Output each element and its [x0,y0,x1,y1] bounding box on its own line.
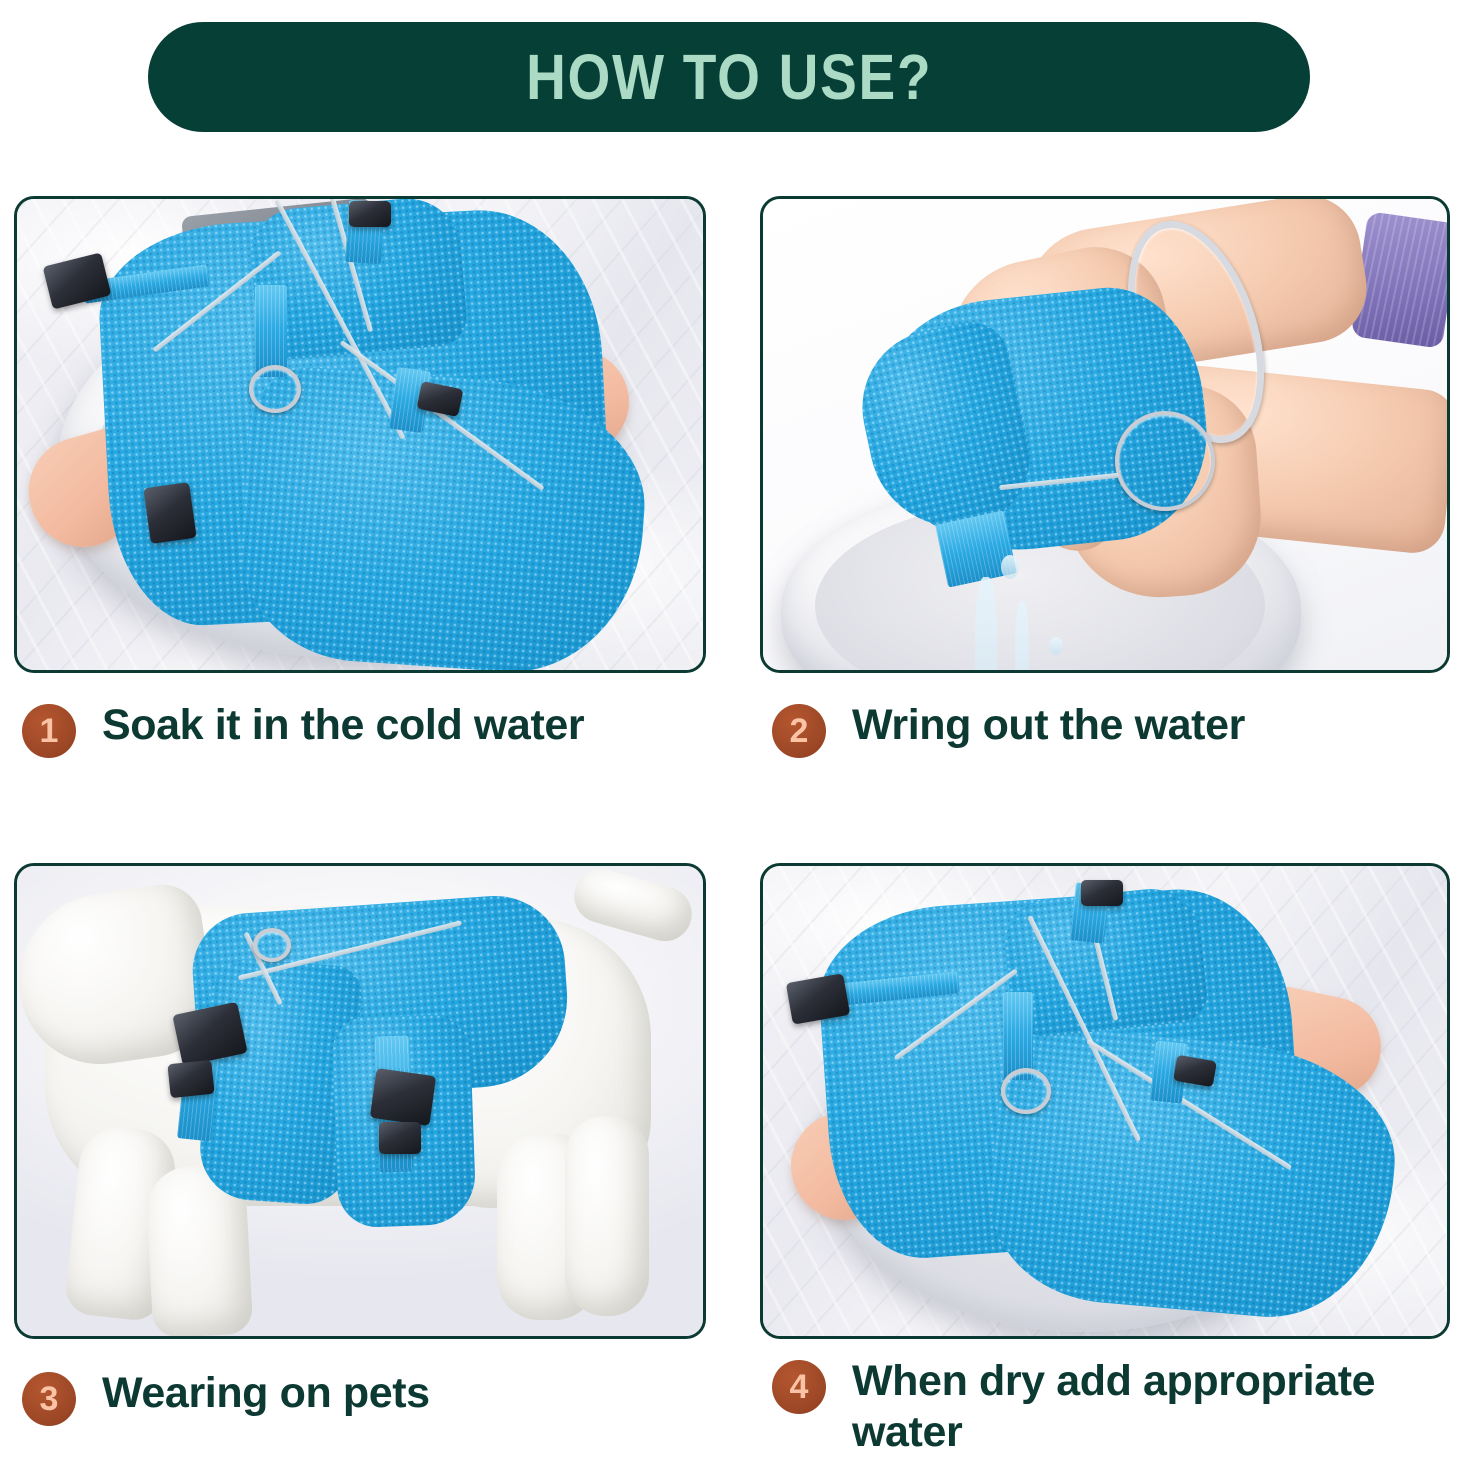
step-number-badge: 4 [772,1360,826,1414]
step-3-scene [17,866,703,1336]
water-stream-secondary [1015,601,1029,670]
harness-o-ring [1115,411,1215,511]
step-caption-text: Soak it in the cold water [102,700,584,751]
header-banner: HOW TO USE? [148,22,1310,132]
step-caption-text: Wearing on pets [102,1368,430,1419]
harness-top-ring [253,928,291,962]
step-4-caption: 4 When dry add appropriate water [772,1356,1438,1457]
step-2-scene [763,199,1447,670]
step-2-caption: 2 Wring out the water [772,700,1432,758]
step-1-caption: 1 Soak it in the cold water [22,700,682,758]
harness-handle-strap [1003,992,1033,1080]
step-caption-text: Wring out the water [852,700,1245,751]
d-ring [1001,1068,1051,1114]
buckle-top-right [349,201,391,227]
step-3-image-panel [14,863,706,1339]
step-number-badge: 3 [22,1372,76,1426]
step-number-badge: 2 [772,704,826,758]
buckle-front-slider [167,1060,214,1098]
buckle-bottom-left [143,482,196,544]
step-number-badge: 1 [22,704,76,758]
step-3-caption: 3 Wearing on pets [22,1368,682,1426]
step-2-image-panel [760,196,1450,673]
page-title: HOW TO USE? [526,45,932,109]
buckle-top-right [1081,880,1123,906]
step-caption-text: When dry add appropriate water [852,1356,1438,1457]
buckle-belly-slider [379,1122,421,1154]
step-1-scene [17,199,703,670]
step-4-scene [763,866,1447,1336]
water-drop-1 [1001,555,1019,579]
water-stream [975,577,997,670]
water-drop-2 [1049,637,1063,655]
harness-handle-strap [255,285,287,377]
buckle-belly [370,1068,436,1126]
d-ring [249,365,301,413]
dog-hind-leg-right [565,1116,649,1316]
step-1-image-panel [14,196,706,673]
step-4-image-panel [760,863,1450,1339]
